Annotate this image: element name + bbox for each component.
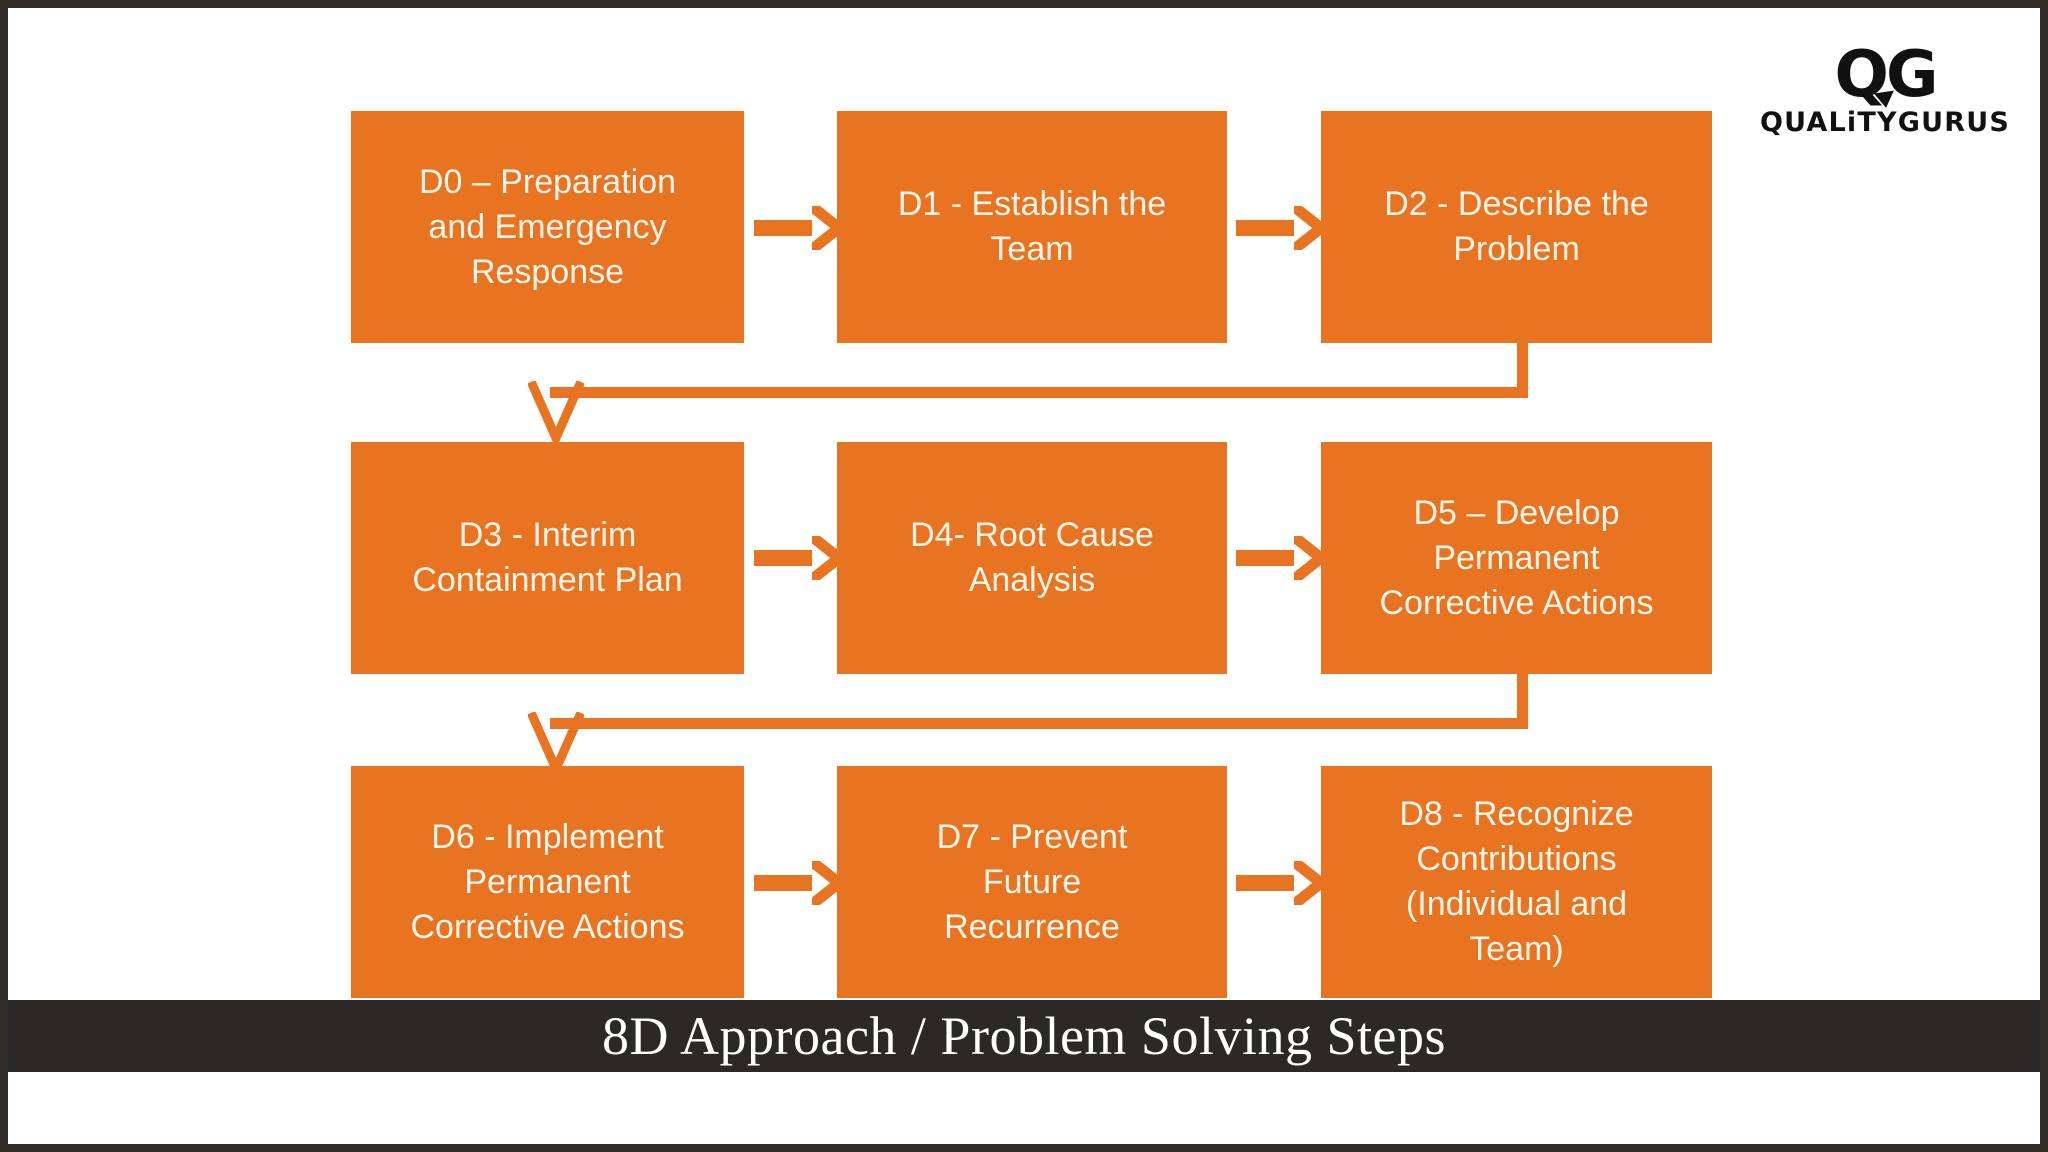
arrow-d2-d3: [528, 343, 1528, 443]
arrow-shaft: [1236, 875, 1294, 891]
flow-box-d4[interactable]: D4- Root Cause Analysis: [837, 442, 1227, 674]
arrow-head-right-icon: [1294, 206, 1324, 250]
logo-wordmark: QUALiTYGURUS: [1750, 108, 2020, 138]
flow-box-d2[interactable]: D2 - Describe the Problem: [1321, 111, 1712, 343]
flow-box-d0-label: D0 – Preparation and Emergency Response: [419, 160, 676, 295]
arrow-d6-d7: [754, 853, 842, 913]
arrow-head-right-icon: [1294, 861, 1324, 905]
flow-box-d7-label: D7 - Prevent Future Recurrence: [937, 815, 1128, 950]
flow-box-d3-label: D3 - Interim Containment Plan: [412, 513, 682, 603]
flow-box-d8-label: D8 - Recognize Contributions (Individual…: [1399, 792, 1633, 972]
arrow-d0-d1: [754, 198, 842, 258]
arrow-shaft: [754, 550, 812, 566]
arrow-shaft: [1236, 220, 1294, 236]
arrow-d3-d4: [754, 528, 842, 588]
flow-box-d5-label: D5 – Develop Permanent Corrective Action…: [1380, 491, 1654, 626]
slide-canvas: QG QUALiTYGURUS D0 – Preparation and Eme…: [8, 8, 2040, 1072]
logo-mark-qg: QG: [1835, 44, 1936, 106]
page-title: 8D Approach / Problem Solving Steps: [602, 1007, 1446, 1065]
arrow-shaft: [754, 875, 812, 891]
flow-box-d4-label: D4- Root Cause Analysis: [910, 513, 1154, 603]
connector-vertical-down-right: [1517, 674, 1528, 721]
slide-frame: QG QUALiTYGURUS D0 – Preparation and Eme…: [0, 0, 2048, 1152]
flow-box-d1[interactable]: D1 - Establish the Team: [837, 111, 1227, 343]
arrow-d4-d5: [1236, 528, 1324, 588]
qualitygurus-logo: QG QUALiTYGURUS: [1750, 44, 2020, 138]
flow-box-d6[interactable]: D6 - Implement Permanent Corrective Acti…: [351, 766, 744, 998]
connector-horizontal: [550, 718, 1528, 729]
flow-box-d8[interactable]: D8 - Recognize Contributions (Individual…: [1321, 766, 1712, 998]
arrow-head-down-icon: [528, 381, 584, 443]
flow-box-d2-label: D2 - Describe the Problem: [1384, 182, 1649, 272]
arrow-d1-d2: [1236, 198, 1324, 258]
connector-horizontal: [550, 387, 1528, 398]
flow-box-d3[interactable]: D3 - Interim Containment Plan: [351, 442, 744, 674]
arrow-head-right-icon: [1294, 536, 1324, 580]
arrow-head-down-icon: [528, 712, 584, 774]
flow-box-d0[interactable]: D0 – Preparation and Emergency Response: [351, 111, 744, 343]
logo-q-tail-icon: [1874, 91, 1896, 110]
flow-box-d6-label: D6 - Implement Permanent Corrective Acti…: [411, 815, 685, 950]
arrow-shaft: [754, 220, 812, 236]
footer-bar: 8D Approach / Problem Solving Steps: [8, 1000, 2040, 1072]
arrow-d7-d8: [1236, 853, 1324, 913]
flow-box-d5[interactable]: D5 – Develop Permanent Corrective Action…: [1321, 442, 1712, 674]
connector-vertical-down-right: [1517, 343, 1528, 390]
arrow-d5-d6: [528, 674, 1528, 774]
flow-box-d1-label: D1 - Establish the Team: [898, 182, 1166, 272]
flow-box-d7[interactable]: D7 - Prevent Future Recurrence: [837, 766, 1227, 998]
arrow-shaft: [1236, 550, 1294, 566]
